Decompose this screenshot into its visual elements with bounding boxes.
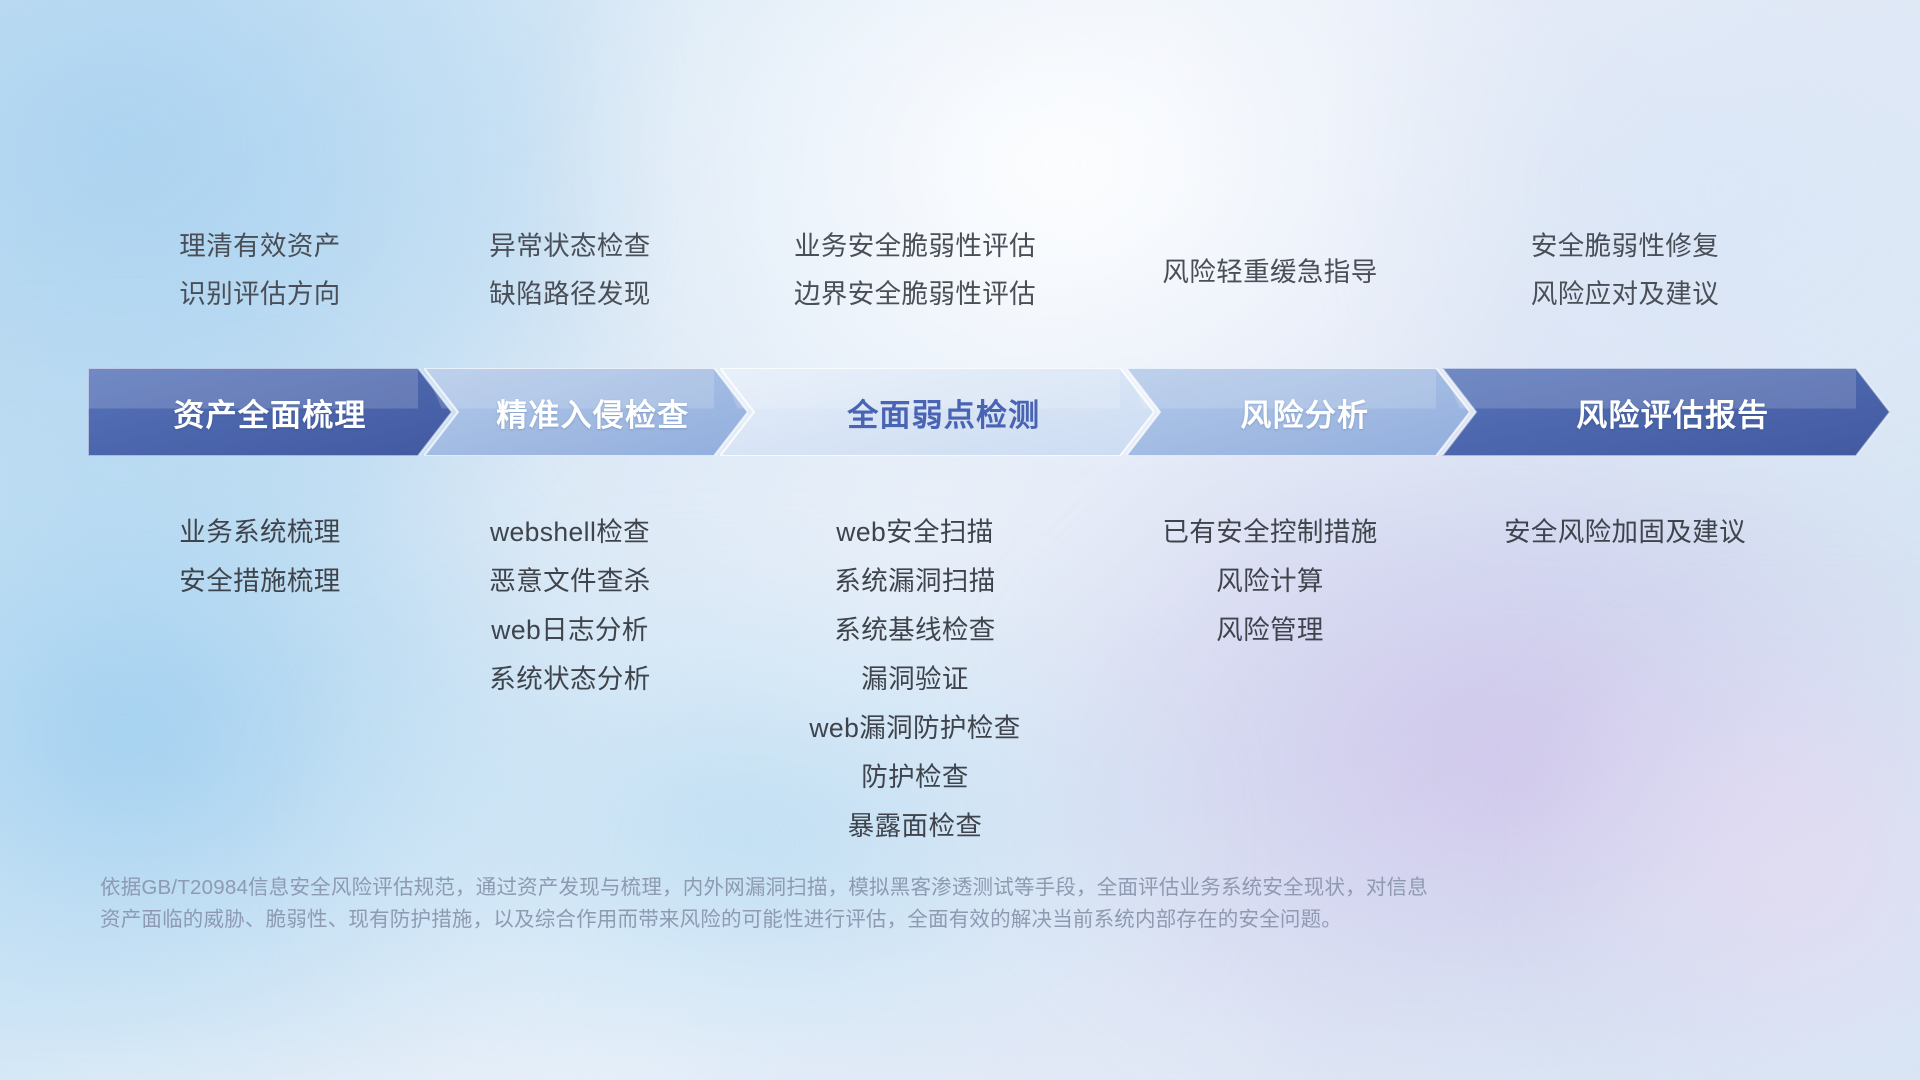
slide-canvas: 理清有效资产识别评估方向异常状态检查缺陷路径发现业务安全脆弱性评估边界安全脆弱性… [0, 0, 1920, 1080]
detail-item: 系统漏洞扫描 [834, 557, 995, 606]
top-caption: 理清有效资产 [179, 222, 340, 270]
top-captions-weakness-detection: 业务安全脆弱性评估边界安全脆弱性评估 [715, 222, 1115, 332]
top-caption: 安全脆弱性修复 [1531, 222, 1719, 270]
process-step-label: 资产全面梳理 [173, 390, 366, 435]
process-step-risk-analysis[interactable]: 风险分析 [1126, 368, 1470, 456]
process-chevron-band: 资产全面梳理精准入侵检查全面弱点检测风险分析风险评估报告 [88, 368, 1832, 456]
process-step-label: 风险评估报告 [1576, 390, 1769, 435]
top-captions-asset-inventory: 理清有效资产识别评估方向 [95, 222, 425, 332]
detail-item: 业务系统梳理 [179, 508, 340, 557]
bottom-details-asset-inventory: 业务系统梳理安全措施梳理 [95, 508, 425, 851]
detail-item: 安全措施梳理 [179, 557, 340, 606]
process-step-intrusion-check[interactable]: 精准入侵检查 [424, 368, 748, 456]
bottom-details-risk-analysis: 已有安全控制措施风险计算风险管理 [1115, 508, 1425, 851]
process-step-risk-report[interactable]: 风险评估报告 [1442, 368, 1890, 456]
top-caption: 风险轻重缓急指导 [1162, 248, 1377, 296]
top-caption: 业务安全脆弱性评估 [794, 222, 1036, 270]
bottom-details-risk-report: 安全风险加固及建议 [1425, 508, 1825, 851]
top-caption: 边界安全脆弱性评估 [794, 270, 1036, 318]
detail-item: web安全扫描 [836, 508, 993, 557]
top-captions-risk-analysis: 风险轻重缓急指导 [1115, 222, 1425, 332]
top-captions-intrusion-check: 异常状态检查缺陷路径发现 [425, 222, 715, 332]
detail-item: 风险管理 [1216, 606, 1324, 655]
footer-description: 依据GB/T20984信息安全风险评估规范，通过资产发现与梳理，内外网漏洞扫描，… [100, 872, 1660, 936]
top-caption: 风险应对及建议 [1531, 270, 1719, 318]
process-step-label: 全面弱点检测 [847, 390, 1040, 435]
detail-item: web漏洞防护检查 [809, 704, 1020, 753]
detail-item: 漏洞验证 [861, 655, 969, 704]
slide-content: 理清有效资产识别评估方向异常状态检查缺陷路径发现业务安全脆弱性评估边界安全脆弱性… [0, 0, 1920, 1080]
footer-line-2: 资产面临的威胁、脆弱性、现有防护措施，以及综合作用而带来风险的可能性进行评估，全… [100, 904, 1660, 936]
bottom-details-intrusion-check: webshell检查恶意文件查杀web日志分析系统状态分析 [425, 508, 715, 851]
top-caption: 缺陷路径发现 [489, 270, 650, 318]
detail-item: 防护检查 [861, 753, 969, 802]
detail-item: 系统基线检查 [834, 606, 995, 655]
detail-item: web日志分析 [491, 606, 648, 655]
bottom-details-weakness-detection: web安全扫描系统漏洞扫描系统基线检查漏洞验证web漏洞防护检查防护检查暴露面检… [715, 508, 1115, 851]
detail-item: 恶意文件查杀 [489, 557, 650, 606]
process-step-label: 风险分析 [1240, 390, 1369, 435]
top-captions-risk-report: 安全脆弱性修复风险应对及建议 [1425, 222, 1825, 332]
process-step-weakness-detection[interactable]: 全面弱点检测 [720, 368, 1154, 456]
detail-item: 系统状态分析 [489, 655, 650, 704]
detail-item: 已有安全控制措施 [1162, 508, 1377, 557]
process-step-label: 精准入侵检查 [496, 390, 689, 435]
detail-item: 暴露面检查 [848, 802, 983, 851]
process-step-asset-inventory[interactable]: 资产全面梳理 [88, 368, 452, 456]
footer-line-1: 依据GB/T20984信息安全风险评估规范，通过资产发现与梳理，内外网漏洞扫描，… [100, 872, 1660, 904]
bottom-details-row: 业务系统梳理安全措施梳理webshell检查恶意文件查杀web日志分析系统状态分… [95, 508, 1825, 851]
top-captions-row: 理清有效资产识别评估方向异常状态检查缺陷路径发现业务安全脆弱性评估边界安全脆弱性… [95, 222, 1825, 332]
top-caption: 异常状态检查 [489, 222, 650, 270]
top-caption: 识别评估方向 [179, 270, 340, 318]
detail-item: 安全风险加固及建议 [1504, 508, 1746, 557]
detail-item: webshell检查 [490, 508, 650, 557]
detail-item: 风险计算 [1216, 557, 1324, 606]
